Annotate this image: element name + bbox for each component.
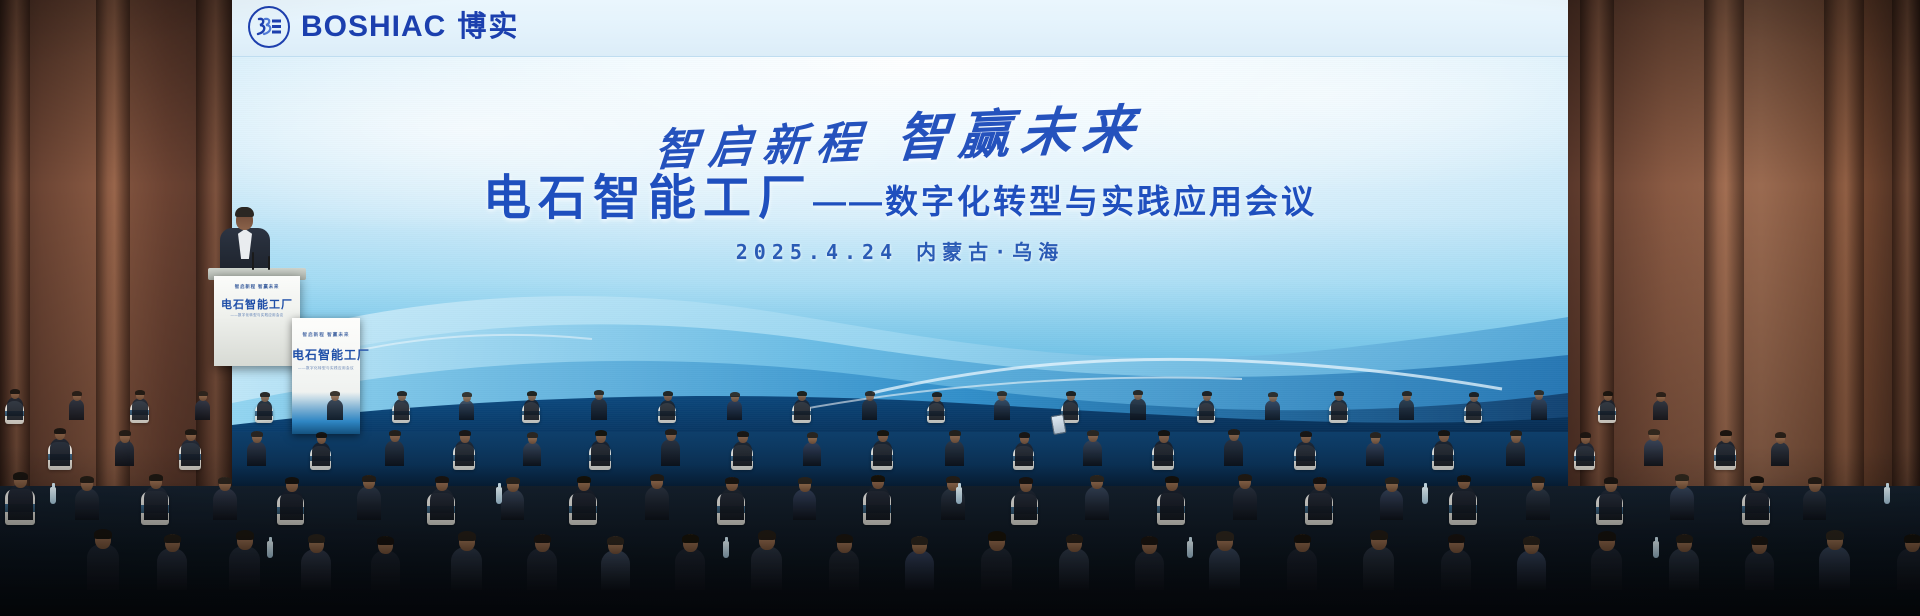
audience-body xyxy=(132,398,148,420)
audience-body xyxy=(394,399,409,420)
audience-hair xyxy=(1604,477,1618,484)
audience-member xyxy=(572,471,596,520)
audience-member xyxy=(675,527,705,590)
audience-body xyxy=(451,547,482,590)
audience-member xyxy=(1653,390,1668,420)
audience-hair xyxy=(462,392,472,397)
audience-body xyxy=(1363,546,1394,590)
audience-body xyxy=(523,442,541,466)
audience-body xyxy=(1366,442,1384,466)
audience-member xyxy=(524,388,539,420)
audience-member xyxy=(301,528,331,590)
audience-member xyxy=(459,390,474,420)
audience-hair xyxy=(1648,429,1660,435)
audience-body xyxy=(1466,400,1481,420)
audience-hair xyxy=(877,430,889,436)
audience-hair xyxy=(1808,477,1822,484)
audience-hair xyxy=(797,391,807,396)
audience-member xyxy=(866,469,890,520)
audience-hair xyxy=(1165,476,1179,483)
audience-member xyxy=(1160,471,1184,520)
audience-body xyxy=(1716,440,1735,466)
audience-body xyxy=(1441,549,1471,590)
audience-body xyxy=(1531,398,1547,420)
audience-body xyxy=(1803,489,1826,520)
audience-member xyxy=(1308,472,1332,520)
audience-member xyxy=(1591,525,1622,590)
audience-body xyxy=(1897,548,1920,590)
audience-hair xyxy=(285,477,299,484)
audience-member xyxy=(8,466,33,520)
audience-body xyxy=(280,489,303,520)
audience-member xyxy=(1897,527,1920,590)
audience-member xyxy=(75,471,99,520)
audience-member xyxy=(794,388,810,420)
audience-body xyxy=(793,489,816,520)
audience-member xyxy=(793,473,816,520)
boshiac-circle-logo-icon xyxy=(248,6,290,48)
audience-body xyxy=(981,547,1012,590)
audience-hair xyxy=(730,392,740,397)
audience-member xyxy=(157,527,187,590)
podium-main-line: 电石智能工厂 xyxy=(214,296,300,312)
audience-body xyxy=(357,486,381,520)
audience-hair xyxy=(911,536,928,545)
audience-member xyxy=(1209,525,1240,590)
audience-member xyxy=(1452,469,1476,520)
water-bottle xyxy=(267,541,273,558)
audience-hair xyxy=(665,429,677,435)
audience-hair xyxy=(13,472,28,480)
audience-hair xyxy=(865,391,875,396)
audience-hair xyxy=(1510,430,1522,436)
audience-member xyxy=(601,530,630,590)
audience-body xyxy=(1670,486,1694,520)
audience-hair xyxy=(1090,475,1104,482)
audience-body xyxy=(1014,489,1037,520)
audience-body xyxy=(1745,550,1774,590)
audience-hair xyxy=(119,430,131,436)
microphone xyxy=(252,252,254,270)
microphone xyxy=(268,256,270,270)
audience-member xyxy=(1380,473,1403,520)
audience-hair xyxy=(1066,534,1083,543)
audience-body xyxy=(501,489,524,520)
audience-hair xyxy=(10,389,20,394)
audience-body xyxy=(591,398,607,420)
audience-hair xyxy=(1675,474,1689,481)
audience-member xyxy=(1466,390,1481,420)
audience-hair xyxy=(308,534,325,543)
audience-hair xyxy=(1202,391,1212,396)
audience-member xyxy=(1199,389,1214,420)
audience-hair xyxy=(988,531,1006,541)
audience-body xyxy=(1308,488,1332,520)
audience-body xyxy=(181,439,200,466)
brand-chinese-text: 博实 xyxy=(457,13,519,42)
audience-hair xyxy=(164,534,181,543)
audience-member xyxy=(1670,468,1694,520)
audience-body xyxy=(1771,442,1789,466)
audience-body xyxy=(1653,400,1668,420)
audience-hair xyxy=(1826,530,1844,540)
audience-hair xyxy=(54,428,66,434)
audience-hair xyxy=(1603,391,1613,396)
water-bottle xyxy=(1422,487,1428,504)
audience-hair xyxy=(1141,536,1158,545)
audience-body xyxy=(1059,548,1089,590)
audience-body xyxy=(572,488,596,520)
audience-body xyxy=(994,399,1010,420)
audience-body xyxy=(229,546,260,590)
water-bottle xyxy=(1653,541,1659,558)
audience-hair xyxy=(1676,534,1693,543)
audience-hair xyxy=(236,530,254,540)
audience-member xyxy=(1434,426,1453,466)
audience-body xyxy=(1576,442,1594,466)
audience-member xyxy=(994,388,1010,420)
screen-title-row: 电石智能工厂——数字化转型与实践应用会议 xyxy=(232,158,1568,228)
audience-hair xyxy=(149,474,163,481)
audience-hair xyxy=(1370,432,1381,438)
audience-hair xyxy=(1751,536,1768,545)
audience-hair xyxy=(1370,530,1388,540)
audience-member xyxy=(862,388,877,420)
audience-body xyxy=(1130,398,1146,420)
audience-member xyxy=(87,521,119,590)
audience-member xyxy=(1287,527,1317,590)
audience-member xyxy=(1600,388,1615,420)
audience-body xyxy=(1819,546,1850,590)
speaker-hair xyxy=(235,207,254,217)
audience-body xyxy=(385,440,404,466)
audience-member xyxy=(829,528,859,590)
audience-body xyxy=(675,548,705,590)
audience-body xyxy=(69,399,84,420)
audience-member xyxy=(1441,528,1471,590)
audience-member xyxy=(1506,427,1525,466)
audience-hair xyxy=(737,431,749,437)
audience-hair xyxy=(506,477,520,484)
audience-body xyxy=(1669,548,1699,590)
audience-body xyxy=(87,544,119,590)
audience-hair xyxy=(1158,430,1170,436)
audience-member xyxy=(751,524,782,590)
audience-member xyxy=(1531,387,1547,420)
audience-member xyxy=(1130,387,1146,420)
audience-body xyxy=(524,399,539,420)
audience-hair xyxy=(836,534,853,543)
audience-hair xyxy=(1385,477,1399,484)
audience-body xyxy=(1600,399,1615,420)
audience-member xyxy=(1517,530,1546,590)
audience-hair xyxy=(1294,534,1311,543)
audience-member xyxy=(1771,429,1789,466)
water-bottle xyxy=(496,487,502,504)
audience-member xyxy=(803,429,821,466)
audience-hair xyxy=(1457,475,1471,482)
audience-member xyxy=(327,388,343,420)
audience-member xyxy=(312,429,330,466)
audience-body xyxy=(1745,488,1769,520)
audience-hair xyxy=(1469,392,1479,397)
audience-body xyxy=(1265,400,1280,420)
audience xyxy=(0,316,1920,616)
audience-hair xyxy=(1656,392,1666,397)
audience-hair xyxy=(997,391,1007,396)
audience-body xyxy=(1085,486,1109,520)
audience-member xyxy=(523,429,541,466)
audience-member xyxy=(645,468,669,520)
audience-hair xyxy=(72,391,82,396)
audience-body xyxy=(1199,400,1214,420)
audience-body xyxy=(115,440,134,466)
audience-member xyxy=(1526,471,1550,520)
audience-body xyxy=(873,440,892,466)
audience-body xyxy=(459,400,474,420)
audience-hair xyxy=(949,430,961,436)
audience-member xyxy=(1154,427,1173,466)
audience-hair xyxy=(1438,430,1450,436)
audience-hair xyxy=(1523,536,1540,545)
audience-body xyxy=(327,399,343,420)
audience-body xyxy=(1452,486,1476,520)
audience-hair xyxy=(932,392,942,397)
audience-body xyxy=(645,486,669,520)
audience-hair xyxy=(316,432,327,438)
audience-member xyxy=(1576,429,1594,466)
audience-body xyxy=(247,441,266,466)
audience-body xyxy=(257,400,272,420)
audience-member xyxy=(1331,388,1347,420)
audience-member xyxy=(7,385,23,420)
audience-body xyxy=(1517,550,1546,590)
audience-member xyxy=(1745,530,1774,590)
audience-member xyxy=(501,473,524,520)
audience-body xyxy=(661,439,680,466)
audience-body xyxy=(455,440,474,466)
audience-hair xyxy=(1300,431,1312,437)
audience-body xyxy=(601,550,630,590)
audience-hair xyxy=(663,391,673,396)
audience-member xyxy=(1265,390,1280,420)
water-bottle xyxy=(1884,487,1890,504)
screen-title-sub: ——数字化转型与实践应用会议 xyxy=(813,183,1317,220)
audience-body xyxy=(803,442,821,466)
audience-body xyxy=(213,488,237,520)
top-banner: BOSHIAC 博实 xyxy=(232,0,1568,57)
audience-body xyxy=(1233,486,1257,520)
audience-member xyxy=(257,390,272,420)
audience-member xyxy=(1296,428,1315,466)
audience-member xyxy=(451,525,482,590)
audience-body xyxy=(1380,489,1403,520)
audience-hair xyxy=(1087,430,1099,436)
audience-member xyxy=(181,425,200,466)
audience-hair xyxy=(135,390,145,395)
audience-member xyxy=(1015,429,1033,466)
screen-title-main: 电石智能工厂 xyxy=(483,172,813,225)
audience-hair xyxy=(1228,429,1240,435)
audience-member xyxy=(905,530,934,590)
audience-member xyxy=(591,387,607,420)
audience-body xyxy=(1287,548,1317,590)
audience-body xyxy=(1331,399,1347,420)
audience-hair xyxy=(80,476,94,483)
audience-hair xyxy=(330,391,340,396)
audience-member xyxy=(385,426,404,466)
audience-body xyxy=(301,549,331,590)
audience-member xyxy=(1716,427,1735,466)
audience-body xyxy=(591,440,610,466)
audience-hair xyxy=(435,476,449,483)
audience-member xyxy=(1599,473,1622,520)
audience-member xyxy=(727,390,742,420)
water-bottle xyxy=(50,487,56,504)
audience-member xyxy=(1399,388,1414,420)
audience-body xyxy=(75,488,99,520)
audience-hair xyxy=(1775,432,1786,438)
audience-body xyxy=(1224,439,1243,466)
audience-member xyxy=(69,388,84,420)
screen-date-line: 2025.4.24 内蒙古·乌海 xyxy=(232,236,1568,265)
audience-member xyxy=(527,527,557,590)
audience-member xyxy=(455,427,474,466)
audience-hair xyxy=(1133,390,1143,395)
audience-body xyxy=(862,399,877,420)
audience-member xyxy=(720,472,744,520)
audience-body xyxy=(929,400,944,420)
audience-hair xyxy=(527,391,537,396)
audience-body xyxy=(866,486,890,520)
podium-top-line: 智启新程 智赢未来 xyxy=(214,284,300,290)
audience-body xyxy=(7,397,23,420)
audience-member xyxy=(1233,468,1257,520)
audience-hair xyxy=(1019,432,1030,438)
audience-member xyxy=(1366,429,1384,466)
audience-hair xyxy=(595,430,607,436)
audience-hair xyxy=(185,429,197,435)
audience-body xyxy=(1506,440,1525,466)
audience-body xyxy=(727,400,742,420)
audience-body xyxy=(905,550,934,590)
audience-hair xyxy=(1448,534,1465,543)
brand-latin-text: BOSHIAC xyxy=(301,12,446,42)
audience-hair xyxy=(389,430,401,436)
audience-hair xyxy=(1750,476,1764,483)
audience-body xyxy=(751,546,782,590)
audience-member xyxy=(50,423,70,466)
audience-body xyxy=(1083,440,1102,466)
audience-hair xyxy=(1334,391,1344,396)
audience-member xyxy=(945,427,964,466)
audience-member xyxy=(195,389,210,420)
audience-body xyxy=(1434,440,1453,466)
audience-hair xyxy=(1580,432,1591,438)
audience-hair xyxy=(459,430,471,436)
audience-hair xyxy=(527,432,538,438)
audience-member xyxy=(1745,471,1769,520)
audience-hair xyxy=(1019,477,1033,484)
audience-member xyxy=(247,428,266,466)
audience-body xyxy=(733,441,752,466)
audience-member xyxy=(357,469,381,520)
audience-member xyxy=(929,390,944,420)
audience-hair xyxy=(362,475,376,482)
audience-body xyxy=(50,438,70,466)
audience-hair xyxy=(251,431,263,437)
audience-hair xyxy=(650,474,664,481)
audience-hair xyxy=(594,390,604,395)
audience-hair xyxy=(946,476,960,483)
audience-body xyxy=(1296,441,1315,466)
audience-body xyxy=(371,550,400,590)
audience-hair xyxy=(397,391,407,396)
audience-hair xyxy=(1216,531,1234,541)
audience-member xyxy=(1135,530,1164,590)
audience-body xyxy=(1209,547,1240,590)
audience-hair xyxy=(260,392,270,397)
audience-body xyxy=(1591,547,1622,590)
audience-body xyxy=(430,488,454,520)
audience-hair xyxy=(758,530,776,540)
audience-body xyxy=(527,548,557,590)
audience-member xyxy=(1085,469,1109,520)
audience-hair xyxy=(1534,390,1544,395)
audience-hair xyxy=(807,432,818,438)
audience-hair xyxy=(218,477,232,484)
audience-member xyxy=(981,525,1012,590)
audience-member xyxy=(1063,388,1078,420)
audience-member xyxy=(660,389,675,420)
audience-member xyxy=(591,427,610,466)
audience-member xyxy=(394,388,409,420)
audience-member xyxy=(1819,524,1850,590)
audience-member xyxy=(1059,527,1089,590)
audience-body xyxy=(312,442,330,466)
audience-body xyxy=(1399,399,1414,420)
audience-body xyxy=(829,549,859,590)
audience-member xyxy=(733,428,752,466)
water-bottle xyxy=(956,487,962,504)
audience-hair xyxy=(725,477,739,484)
audience-member xyxy=(229,524,260,590)
audience-hair xyxy=(798,477,812,484)
audience-member xyxy=(115,427,134,466)
audience-body xyxy=(144,486,168,520)
audience-hair xyxy=(458,531,476,541)
audience-member xyxy=(1224,425,1243,466)
audience-hair xyxy=(607,536,624,545)
audience-hair xyxy=(1904,534,1920,543)
audience-hair xyxy=(1066,391,1076,396)
audience-member xyxy=(1669,527,1699,590)
audience-body xyxy=(794,399,810,420)
audience-body xyxy=(195,400,210,420)
audience-hair xyxy=(377,536,394,545)
audience-hair xyxy=(1402,391,1412,396)
audience-hair xyxy=(534,534,551,543)
audience-body xyxy=(720,488,744,520)
audience-body xyxy=(660,400,675,420)
water-bottle xyxy=(723,541,729,558)
audience-hair xyxy=(1531,476,1545,483)
audience-member xyxy=(132,387,148,420)
audience-hair xyxy=(94,529,112,539)
audience-member xyxy=(1363,524,1394,590)
audience-hair xyxy=(682,534,699,543)
audience-member xyxy=(873,426,892,466)
